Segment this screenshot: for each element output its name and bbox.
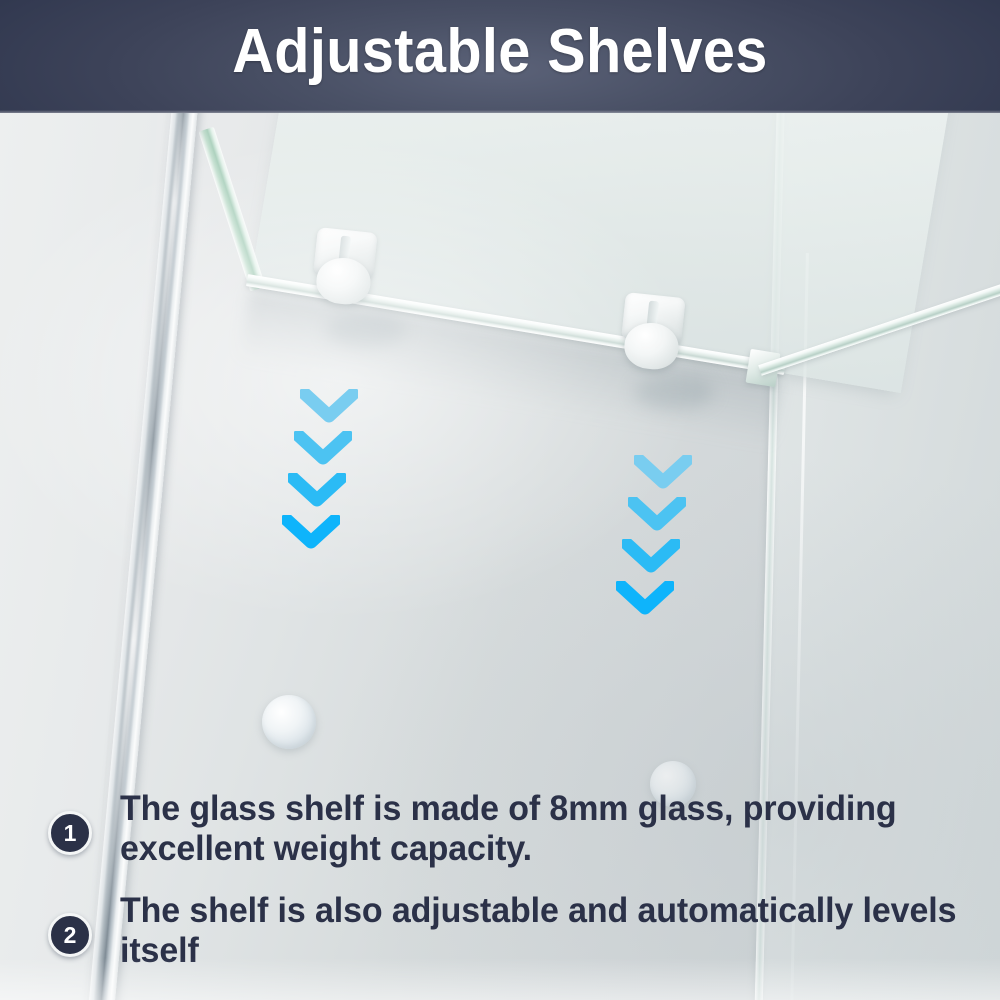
shelf-dome-pin-left	[262, 695, 316, 749]
bullet-number-badge: 2	[48, 913, 92, 957]
list-item: 2 The shelf is also adjustable and autom…	[0, 891, 1000, 971]
bullet-number-badge: 1	[48, 811, 92, 855]
product-feature-image: Adjustable Shelves	[0, 0, 1000, 1000]
shelf-support-pin-right	[618, 292, 685, 372]
shelf-support-pin-shadow	[634, 375, 714, 409]
glass-shelf-thickness-edge	[198, 127, 265, 292]
chevron-down-icon	[300, 389, 358, 423]
chevron-down-icon	[616, 581, 674, 615]
bullet-text: The glass shelf is made of 8mm glass, pr…	[120, 789, 974, 869]
shelf-support-pin-left	[310, 227, 377, 307]
product-photo: 1 The glass shelf is made of 8mm glass, …	[0, 113, 1000, 1000]
chevron-down-icon	[628, 497, 686, 531]
list-item: 1 The glass shelf is made of 8mm glass, …	[0, 789, 1000, 869]
header-banner: Adjustable Shelves	[0, 0, 1000, 113]
chevron-down-icon	[288, 473, 346, 507]
shelf-support-pin-shadow	[326, 313, 406, 347]
feature-list: 1 The glass shelf is made of 8mm glass, …	[0, 789, 1000, 993]
chevron-down-icon	[294, 431, 352, 465]
chevron-down-icon	[282, 515, 340, 549]
page-title: Adjustable Shelves	[35, 16, 965, 88]
chevron-down-icon	[622, 539, 680, 573]
chevron-down-icon	[634, 455, 692, 489]
bullet-text: The shelf is also adjustable and automat…	[120, 891, 974, 971]
